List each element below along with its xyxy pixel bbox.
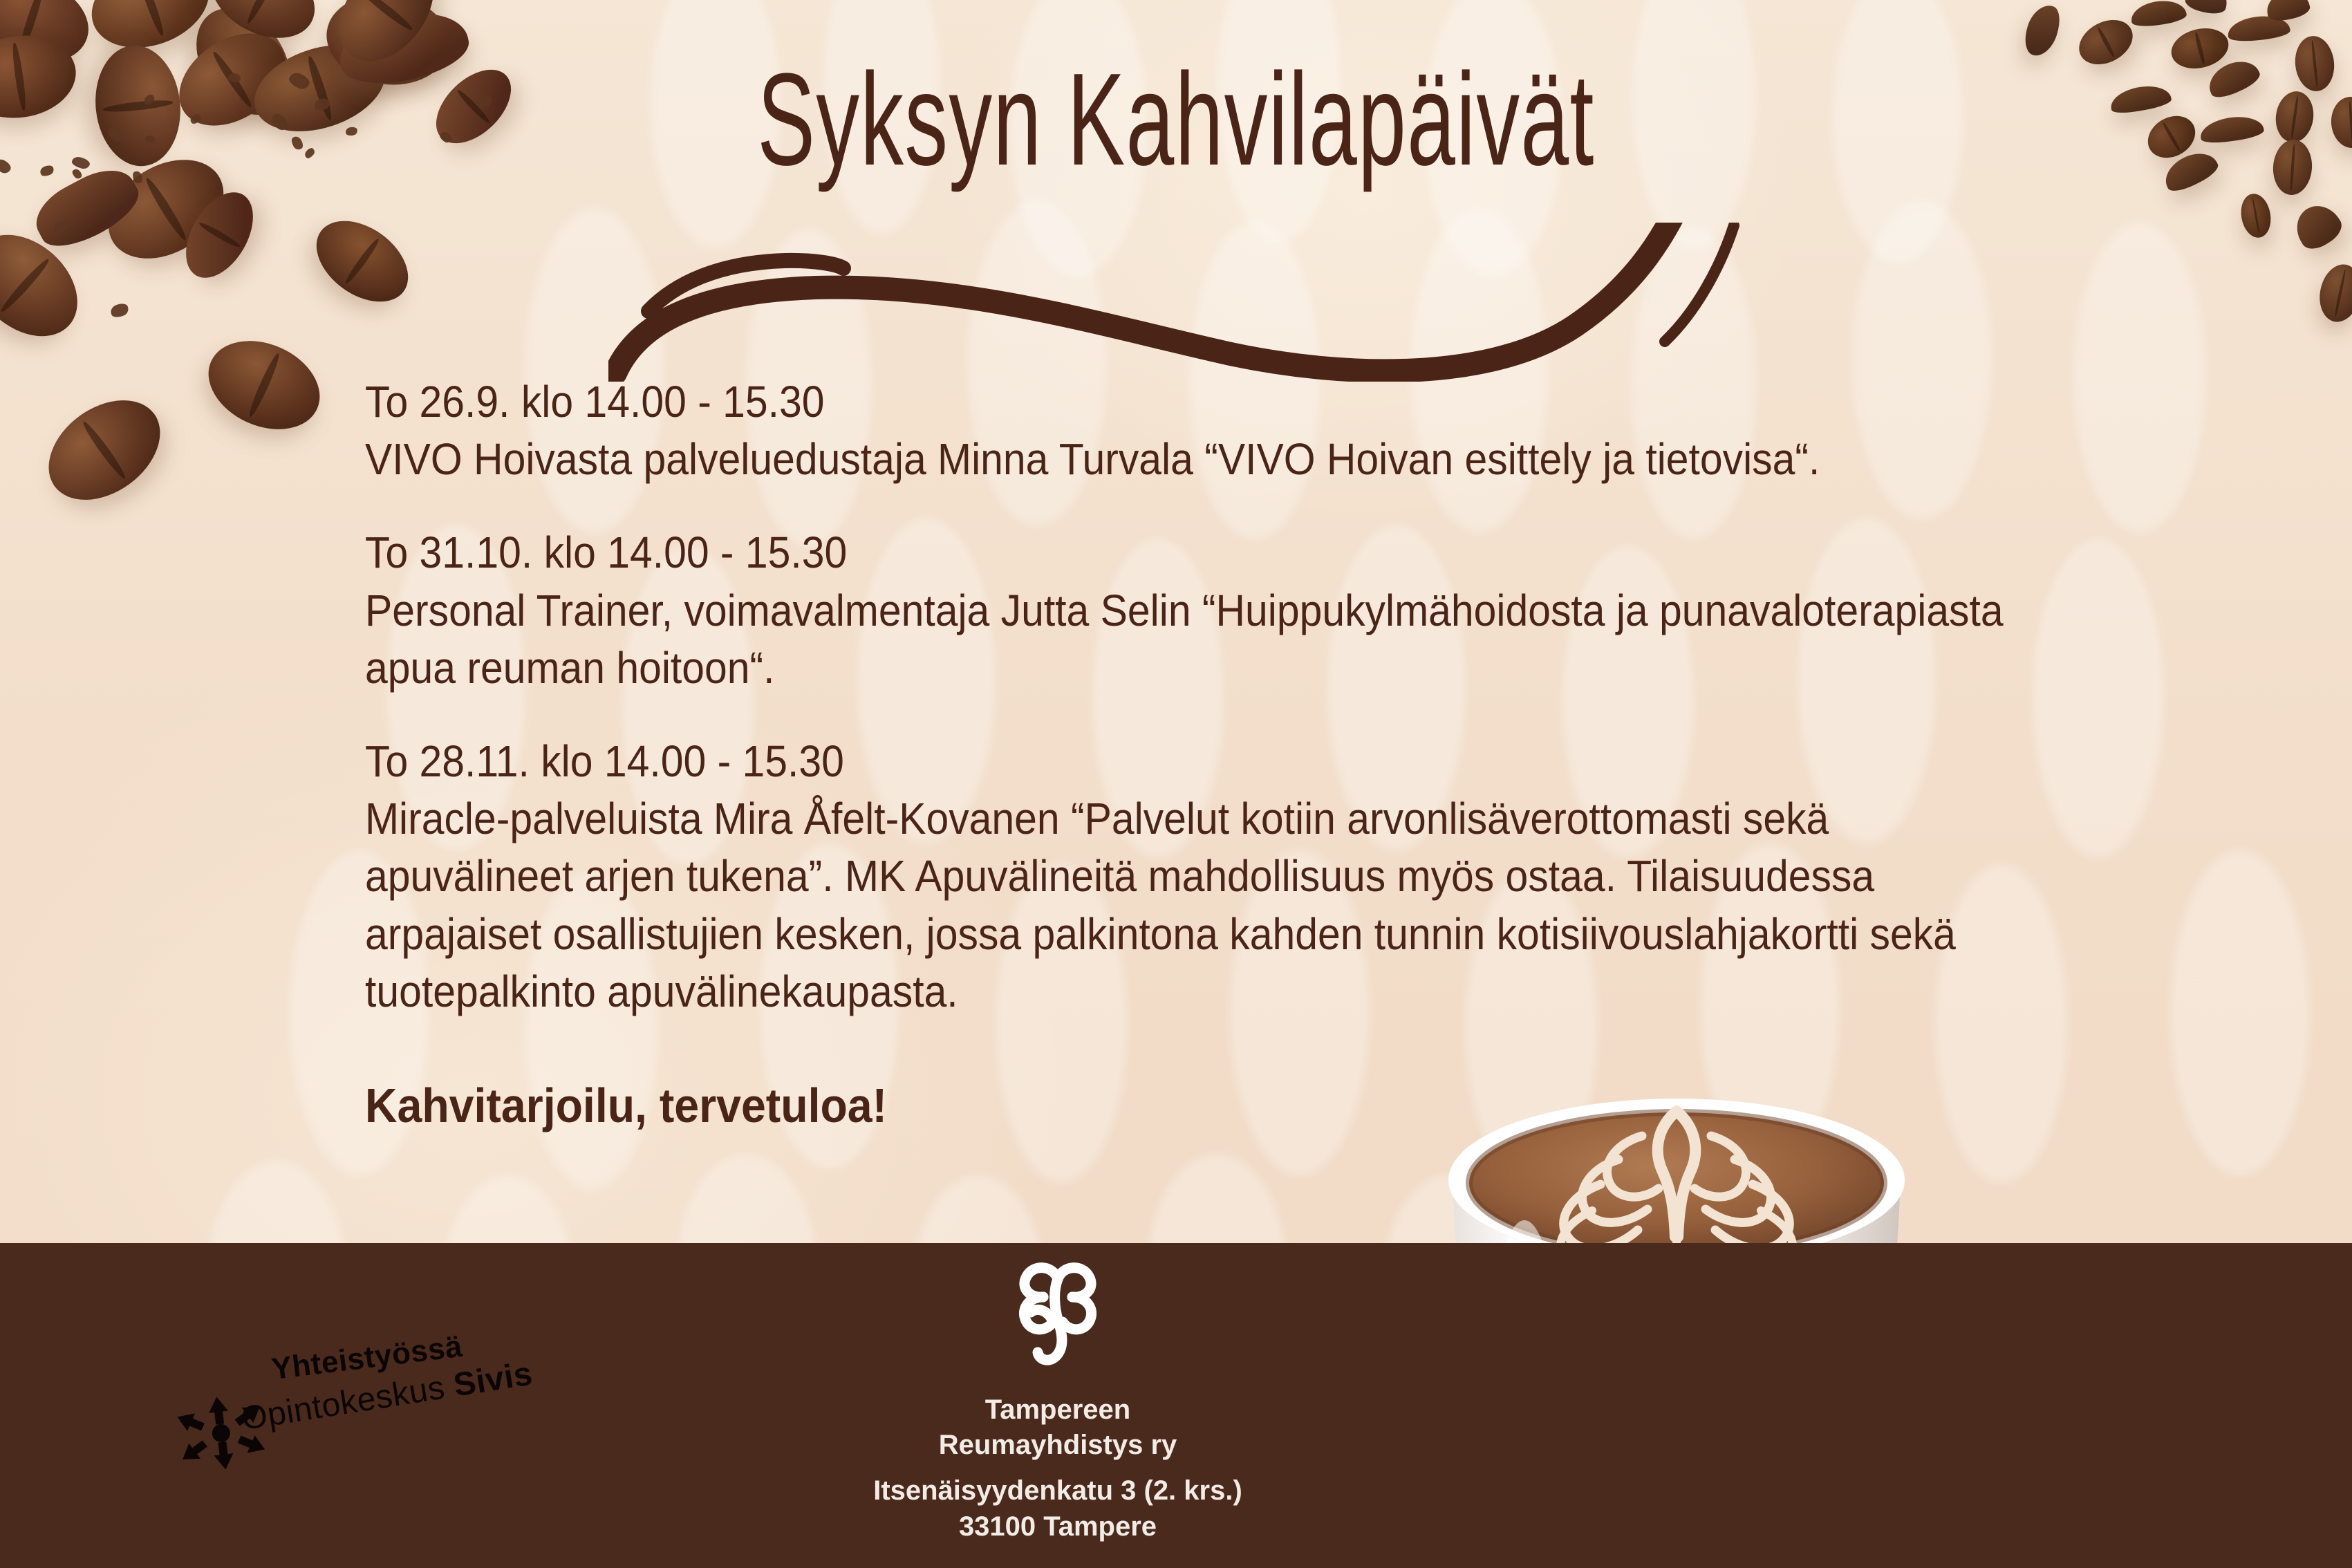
call-to-action-text: Kahvitarjoilu, tervetuloa! [365, 1074, 2095, 1137]
event-description-line: apua reuman hoitoon“. [365, 640, 2095, 697]
event-description-line: arpajaiset osallistujien kesken, jossa p… [365, 906, 2095, 963]
event-description-line: Personal Trainer, voimavalmentaja Jutta … [365, 582, 2095, 640]
page-title: Syksyn Kahvilapäivät [400, 54, 1952, 185]
organization-address-line-1: Itsenäisyydenkatu 3 (2. krs.) [816, 1473, 1300, 1509]
event-block: To 28.11. klo 14.00 - 15.30 Miracle-palv… [365, 733, 2095, 1020]
organization-address: Itsenäisyydenkatu 3 (2. krs.) 33100 Tamp… [816, 1473, 1300, 1544]
organization-block: Tampereen Reumayhdistys ry Itsenäisyyden… [816, 1258, 1300, 1544]
event-description-line: Miracle-palveluista Mira Åfelt-Kovanen “… [365, 790, 2095, 848]
events-content: To 26.9. klo 14.00 - 15.30 VIVO Hoivasta… [365, 373, 2095, 1137]
organization-address-line-2: 33100 Tampere [816, 1509, 1300, 1544]
event-date: To 31.10. klo 14.00 - 15.30 [365, 524, 2095, 581]
organization-name: Tampereen Reumayhdistys ry [816, 1392, 1300, 1463]
event-description-line: apuvälineet arjen tukena”. MK Apuvälinei… [365, 848, 2095, 905]
event-date: To 28.11. klo 14.00 - 15.30 [365, 733, 2095, 790]
title-flourish-swoosh [608, 223, 1825, 382]
event-block: To 26.9. klo 14.00 - 15.30 VIVO Hoivasta… [365, 373, 2095, 488]
organization-name-line-1: Tampereen [816, 1392, 1300, 1428]
event-description-line: tuotepalkinto apuvälinekaupasta. [365, 963, 2095, 1020]
event-block: To 31.10. klo 14.00 - 15.30 Personal Tra… [365, 524, 2095, 697]
organization-name-line-2: Reumayhdistys ry [816, 1428, 1300, 1463]
clover-flower-logo [1013, 1258, 1103, 1377]
event-description-line: VIVO Hoivasta palveluedustaja Minna Turv… [365, 431, 2095, 488]
event-date: To 26.9. klo 14.00 - 15.30 [365, 373, 2095, 431]
partner-name-regular: Opintokeskus [239, 1368, 457, 1437]
poster-canvas: Syksyn Kahvilapäivät To 26.9. klo 14.00 … [0, 0, 2352, 1568]
